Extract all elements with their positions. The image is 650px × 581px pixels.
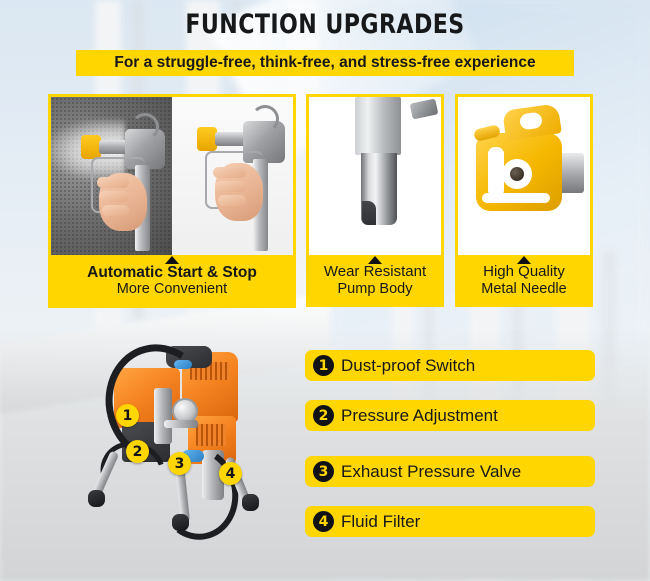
triangle-marker-icon bbox=[165, 256, 179, 264]
machine-callout-3: 3 bbox=[168, 452, 191, 475]
card-caption-line1: Wear Resistant bbox=[313, 264, 437, 281]
machine-callout-1: 1 bbox=[116, 404, 139, 427]
finger bbox=[215, 181, 246, 192]
infographic-page: FUNCTION UPGRADES For a struggle-free, t… bbox=[0, 0, 650, 581]
triangle-marker-icon bbox=[368, 256, 382, 264]
spray-gun-left bbox=[75, 115, 175, 255]
finger bbox=[218, 195, 246, 206]
card-caption: Automatic Start & Stop More Convenient bbox=[51, 255, 293, 305]
page-title: FUNCTION UPGRADES bbox=[59, 9, 592, 40]
pump-accessory bbox=[410, 98, 439, 119]
feature-bar-exhaust-pressure-valve[interactable]: 3 Exhaust Pressure Valve bbox=[305, 456, 595, 487]
feature-number-badge: 3 bbox=[313, 461, 334, 482]
card-caption-line2: Metal Needle bbox=[462, 281, 586, 297]
pump-cutaway bbox=[362, 201, 376, 225]
feature-bar-dust-proof-switch[interactable]: 1 Dust-proof Switch bbox=[305, 350, 595, 381]
card-image-pump-body bbox=[309, 97, 441, 255]
card-image-metal-needle-tip bbox=[458, 97, 590, 255]
feature-label: Pressure Adjustment bbox=[341, 406, 498, 426]
sprayer-foot bbox=[242, 494, 259, 511]
feature-bar-pressure-adjustment[interactable]: 2 Pressure Adjustment bbox=[305, 400, 595, 431]
feature-card-wear-resistant-pump-body[interactable]: Wear Resistant Pump Body bbox=[306, 94, 444, 307]
sprayer-foot bbox=[88, 490, 105, 507]
feature-card-high-quality-metal-needle[interactable]: High Quality Metal Needle bbox=[455, 94, 593, 307]
feature-label: Dust-proof Switch bbox=[341, 356, 475, 376]
machine-callout-2: 2 bbox=[126, 440, 149, 463]
feature-bar-fluid-filter[interactable]: 4 Fluid Filter bbox=[305, 506, 595, 537]
triangle-marker-icon bbox=[517, 256, 531, 264]
finger bbox=[99, 191, 129, 202]
card-caption-line2: More Convenient bbox=[55, 281, 289, 297]
spray-gun-right bbox=[191, 109, 293, 255]
card-caption: Wear Resistant Pump Body bbox=[309, 255, 441, 304]
gun-tip bbox=[197, 127, 217, 151]
card-caption-line2: Pump Body bbox=[313, 281, 437, 297]
gun-hook bbox=[251, 105, 279, 133]
finger bbox=[97, 177, 129, 188]
card-caption: High Quality Metal Needle bbox=[458, 255, 590, 304]
feature-label: Exhaust Pressure Valve bbox=[341, 462, 521, 482]
card-caption-line1: High Quality bbox=[462, 264, 586, 281]
card-caption-line1: Automatic Start & Stop bbox=[55, 264, 289, 281]
paint-sprayer-image: 1 2 3 4 bbox=[78, 338, 293, 550]
sprayer-foot bbox=[172, 514, 189, 531]
finger bbox=[102, 205, 129, 216]
feature-number-badge: 4 bbox=[313, 511, 334, 532]
metal-needle-core bbox=[510, 167, 524, 181]
gun-tip bbox=[81, 135, 101, 159]
machine-callout-4: 4 bbox=[219, 462, 242, 485]
finger bbox=[213, 167, 246, 178]
card-image-spray-gun-split bbox=[51, 97, 293, 255]
feature-number-badge: 2 bbox=[313, 405, 334, 426]
feature-card-automatic-start-stop[interactable]: Automatic Start & Stop More Convenient bbox=[48, 94, 296, 308]
feature-label: Fluid Filter bbox=[341, 512, 420, 532]
page-subtitle: For a struggle-free, think-free, and str… bbox=[76, 50, 574, 76]
pump-housing bbox=[355, 97, 401, 155]
guard-cutout bbox=[482, 193, 550, 203]
gun-hook bbox=[131, 113, 159, 141]
feature-number-badge: 1 bbox=[313, 355, 334, 376]
